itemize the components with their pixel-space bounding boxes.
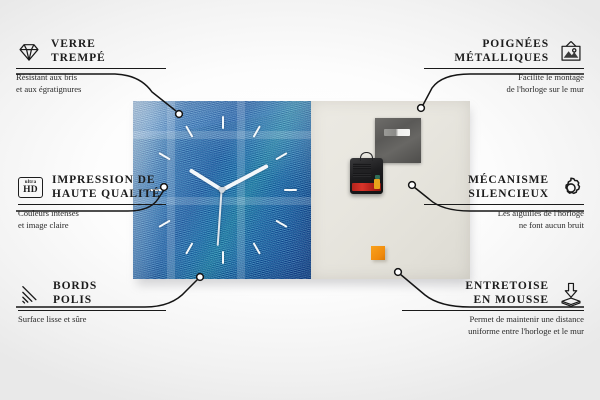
hd-badge-bottom-text: HD [23, 186, 38, 196]
callout-rule [424, 204, 584, 205]
callout-rule [16, 68, 166, 69]
callout-title: ENTRETOISE EN MOUSSE [465, 280, 549, 307]
callout-tempered-glass: VERRE TREMPÉ Résistant aux bris et aux é… [16, 38, 166, 95]
callout-subtitle: Facilite le montage de l'horloge sur le … [424, 72, 584, 95]
gear-icon [558, 175, 584, 201]
callout-metal-handles: POIGNÉES MÉTALLIQUES Facilite le montage… [424, 38, 584, 95]
infographic-stage: VERRE TREMPÉ Résistant aux bris et aux é… [0, 0, 600, 400]
callout-title: BORDS POLIS [53, 280, 97, 307]
callout-subtitle: Résistant aux bris et aux égratignures [16, 72, 166, 95]
callout-header: POIGNÉES MÉTALLIQUES [424, 38, 584, 65]
callout-rule [18, 310, 166, 311]
callout-header: ENTRETOISE EN MOUSSE [402, 280, 584, 307]
callout-polished-edges: BORDS POLIS Surface lisse et sûre [18, 280, 168, 326]
leader-dot-foam-spacer [395, 269, 402, 276]
callout-subtitle: Surface lisse et sûre [18, 314, 168, 326]
diamond-icon [16, 39, 42, 65]
callout-title: POIGNÉES MÉTALLIQUES [454, 38, 549, 65]
leader-dot-polished-edges [197, 274, 204, 281]
callout-print-quality: ultra HD IMPRESSION DE HAUTE QUALITÉ Cou… [18, 174, 168, 231]
callout-subtitle: Couleurs intenses et image claire [18, 208, 168, 231]
callout-foam-spacer: ENTRETOISE EN MOUSSE Permet de maintenir… [402, 280, 584, 337]
callout-rule [402, 310, 584, 311]
polished-edges-icon [18, 281, 44, 307]
callout-header: MÉCANISME SILENCIEUX [424, 174, 584, 201]
callout-title: MÉCANISME SILENCIEUX [468, 174, 549, 201]
callout-rule [18, 204, 166, 205]
callout-header: VERRE TREMPÉ [16, 38, 166, 65]
callout-header: BORDS POLIS [18, 280, 168, 307]
callout-subtitle: Permet de maintenir une distance uniform… [402, 314, 584, 337]
callout-title: VERRE TREMPÉ [51, 38, 106, 65]
callout-silent-mechanism: MÉCANISME SILENCIEUX Les aiguilles de l'… [424, 174, 584, 231]
callout-title: IMPRESSION DE HAUTE QUALITÉ [52, 174, 161, 201]
callout-header: ultra HD IMPRESSION DE HAUTE QUALITÉ [18, 174, 168, 201]
callout-subtitle: Les aiguilles de l'horloge ne font aucun… [424, 208, 584, 231]
leader-dot-tempered-glass [176, 111, 183, 118]
callout-rule [424, 68, 584, 69]
ultra-hd-badge-icon: ultra HD [18, 177, 43, 198]
hanging-frame-icon [558, 39, 584, 65]
leader-dot-metal-handles [418, 105, 425, 112]
leader-dot-silent-mechanism [409, 182, 416, 189]
press-down-icon [558, 281, 584, 307]
